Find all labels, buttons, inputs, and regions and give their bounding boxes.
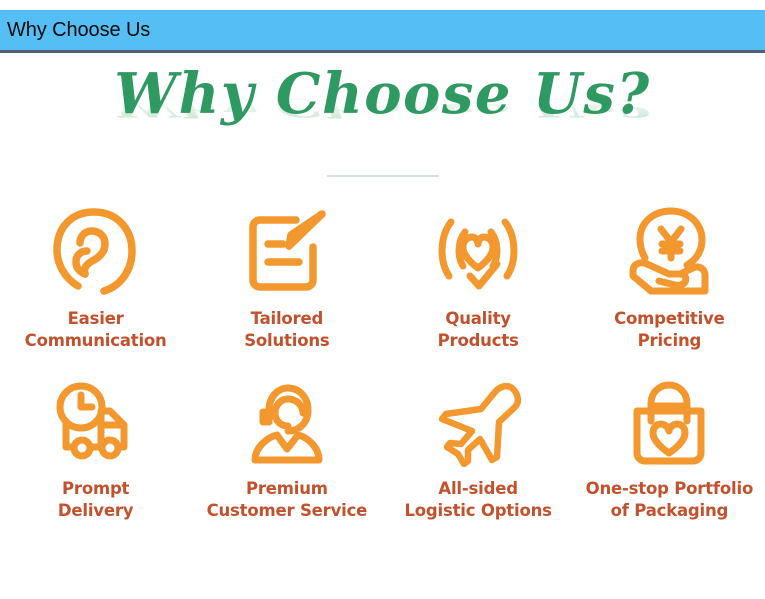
document-pencil-icon [237, 202, 337, 302]
feature-label: Quality Products [438, 308, 519, 352]
feature-item-competitive-pricing[interactable]: Competitive Pricing [574, 202, 765, 374]
feature-item-quality-products[interactable]: Quality Products [383, 202, 574, 374]
feature-label: Prompt Delivery [58, 478, 133, 522]
headset-agent-icon [237, 374, 337, 474]
delivery-truck-clock-icon [46, 374, 146, 474]
hero-banner: Why Choose Us? Why Choose Us? [0, 56, 765, 164]
feature-label: All-sided Logistic Options [404, 478, 551, 522]
title-divider-wrap [0, 164, 765, 178]
hand-yen-coin-icon [619, 202, 719, 302]
heart-signal-check-icon [428, 202, 528, 302]
feature-label: Premium Customer Service [207, 478, 368, 522]
feature-label: Competitive Pricing [614, 308, 724, 352]
window-title-bar: Why Choose Us [0, 10, 765, 53]
shopping-bag-heart-icon [619, 374, 719, 474]
feature-item-easier-communication[interactable]: Easier Communication [0, 202, 191, 374]
feature-item-one-stop-portfolio-of-packaging[interactable]: One-stop Portfolio of Packaging [574, 374, 765, 546]
window-title: Why Choose Us [0, 19, 150, 42]
page-title: Why Choose Us? [0, 62, 765, 126]
feature-label: One-stop Portfolio of Packaging [586, 478, 753, 522]
feature-item-prompt-delivery[interactable]: Prompt Delivery [0, 374, 191, 546]
ear-listening-icon [46, 202, 146, 302]
page-content: Why Choose Us? Why Choose Us? Easier Com… [0, 56, 765, 599]
feature-label: Tailored Solutions [244, 308, 329, 352]
feature-item-premium-customer-service[interactable]: Premium Customer Service [191, 374, 382, 546]
feature-item-all-sided-logistic-options[interactable]: All-sided Logistic Options [383, 374, 574, 546]
features-grid: Easier Communication Tailored Solutions [0, 202, 765, 546]
feature-item-tailored-solutions[interactable]: Tailored Solutions [191, 202, 382, 374]
title-divider [327, 175, 439, 177]
airplane-icon [428, 374, 528, 474]
feature-label: Easier Communication [25, 308, 167, 352]
